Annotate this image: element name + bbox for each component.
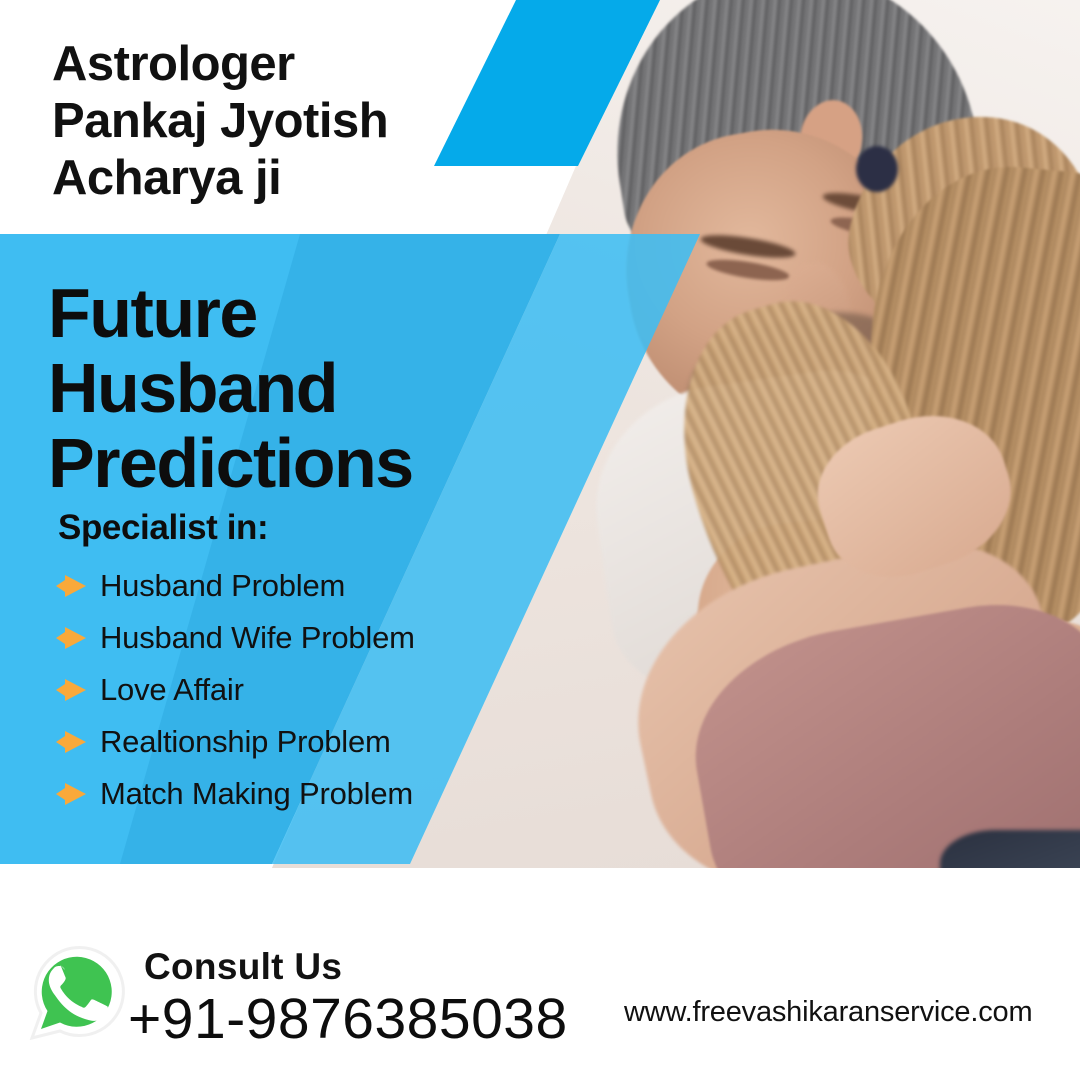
specialist-label: Specialist in: (58, 508, 268, 548)
arrow-star-bullet-icon (56, 678, 86, 702)
service-list: Husband Problem Husband Wife Problem Lov… (56, 560, 516, 820)
list-item-label: Match Making Problem (100, 776, 413, 812)
list-item-label: Love Affair (100, 672, 244, 708)
arrow-star-bullet-icon (56, 730, 86, 754)
arrow-star-bullet-icon (56, 574, 86, 598)
list-item-label: Husband Wife Problem (100, 620, 415, 656)
website-url[interactable]: www.freevashikaranservice.com (624, 996, 1032, 1029)
list-item: Husband Problem (56, 560, 516, 612)
list-item: Love Affair (56, 664, 516, 716)
consult-label: Consult Us (144, 946, 342, 988)
footer-bar: Consult Us +91-9876385038 www.freevashik… (0, 868, 1080, 1080)
arrow-star-bullet-icon (56, 782, 86, 806)
list-item: Match Making Problem (56, 768, 516, 820)
poster-canvas: AstrologerPankaj JyotishAcharya ji Futur… (0, 0, 1080, 1080)
phone-number[interactable]: +91-9876385038 (128, 986, 568, 1052)
list-item: Realtionship Problem (56, 716, 516, 768)
list-item: Husband Wife Problem (56, 612, 516, 664)
whatsapp-icon[interactable] (20, 934, 138, 1052)
page-title: FutureHusbandPredictions (48, 276, 498, 501)
list-item-label: Realtionship Problem (100, 724, 391, 760)
arrow-star-bullet-icon (56, 626, 86, 650)
list-item-label: Husband Problem (100, 568, 345, 604)
astrologer-name: AstrologerPankaj JyotishAcharya ji (52, 36, 522, 207)
